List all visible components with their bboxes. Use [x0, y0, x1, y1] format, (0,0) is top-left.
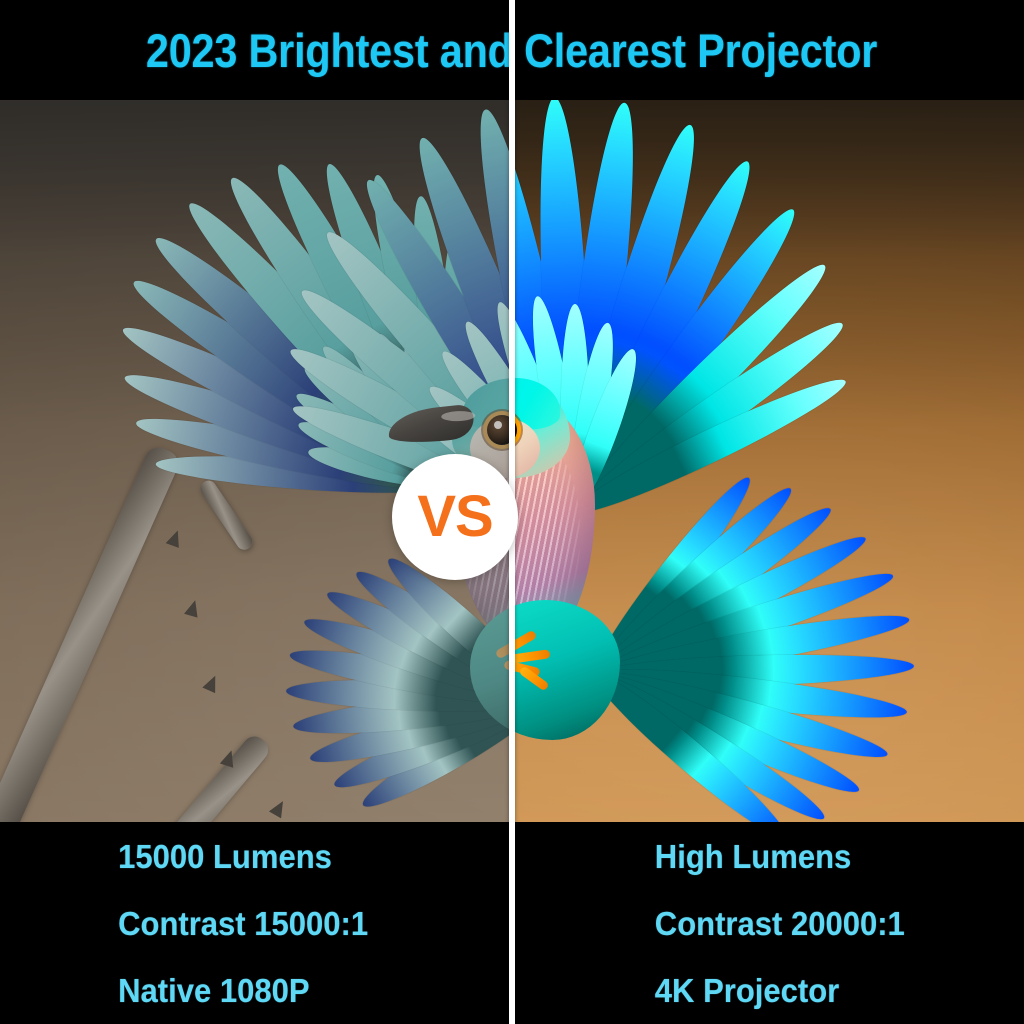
vs-badge: VS [392, 454, 518, 580]
spec-column-yaber: High Lumens Contrast 20000:1 4K Projecto… [512, 822, 1024, 1024]
spec-item: Contrast 15000:1 [118, 907, 372, 940]
product-comparison-poster: 2023 Brightest and Clearest Projector [0, 0, 1024, 1024]
spec-item: 4K Projector [655, 974, 899, 1007]
spec-item: Contrast 20000:1 [655, 907, 899, 940]
spec-column-other: 15000 Lumens Contrast 15000:1 Native 108… [0, 822, 512, 1024]
bird-foot [512, 640, 574, 686]
scene-yaber [512, 100, 1024, 822]
spec-item: Native 1080P [118, 974, 372, 1007]
bird-illustration [512, 100, 1024, 822]
spec-item: 15000 Lumens [118, 840, 372, 873]
photo-half-yaber [512, 100, 1024, 822]
vs-label: VS [417, 488, 492, 546]
spec-item: High Lumens [655, 840, 899, 873]
bird-toe [512, 649, 550, 663]
